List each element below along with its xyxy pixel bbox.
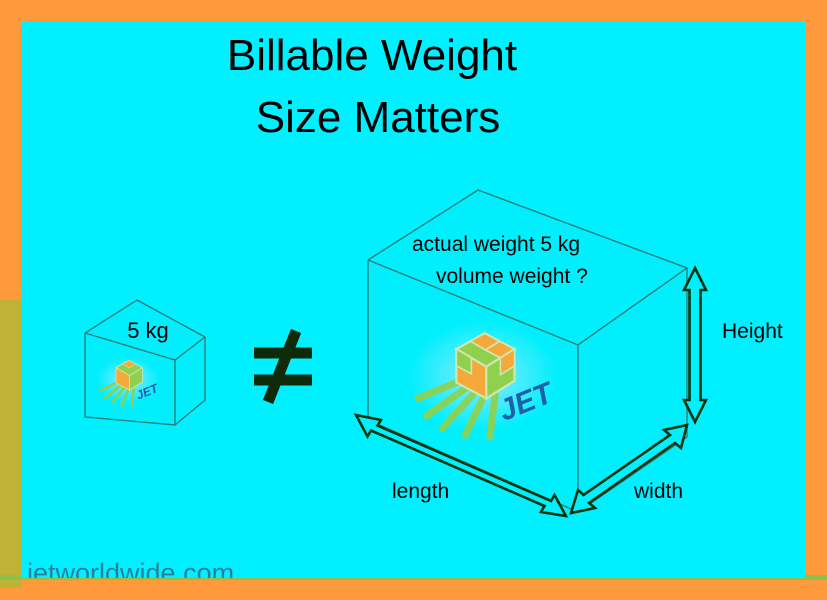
title-block: Billable Weight Size Matters	[227, 31, 517, 142]
title-line-2: Size Matters	[256, 93, 501, 142]
length-label: length	[392, 480, 449, 503]
large-box-label-line-2: volume weight ?	[436, 265, 588, 288]
small-box: 5 kg	[85, 300, 205, 425]
width-label: width	[633, 480, 683, 503]
not-equal-sign	[254, 331, 312, 402]
watermark-text: jetworldwide.com	[26, 558, 234, 578]
height-label: Height	[722, 320, 783, 343]
frame-accent-left	[0, 300, 22, 588]
height-dimension: Height	[684, 268, 783, 422]
title-line-1: Billable Weight	[227, 31, 517, 80]
infographic-canvas: Billable Weight Size Matters 5 kg	[22, 22, 805, 578]
small-box-weight-label: 5 kg	[127, 318, 169, 343]
infographic-root: Billable Weight Size Matters 5 kg	[0, 0, 827, 600]
diagram-artwork: Billable Weight Size Matters 5 kg	[22, 22, 805, 578]
large-box-label-line-1: actual weight 5 kg	[412, 233, 580, 256]
